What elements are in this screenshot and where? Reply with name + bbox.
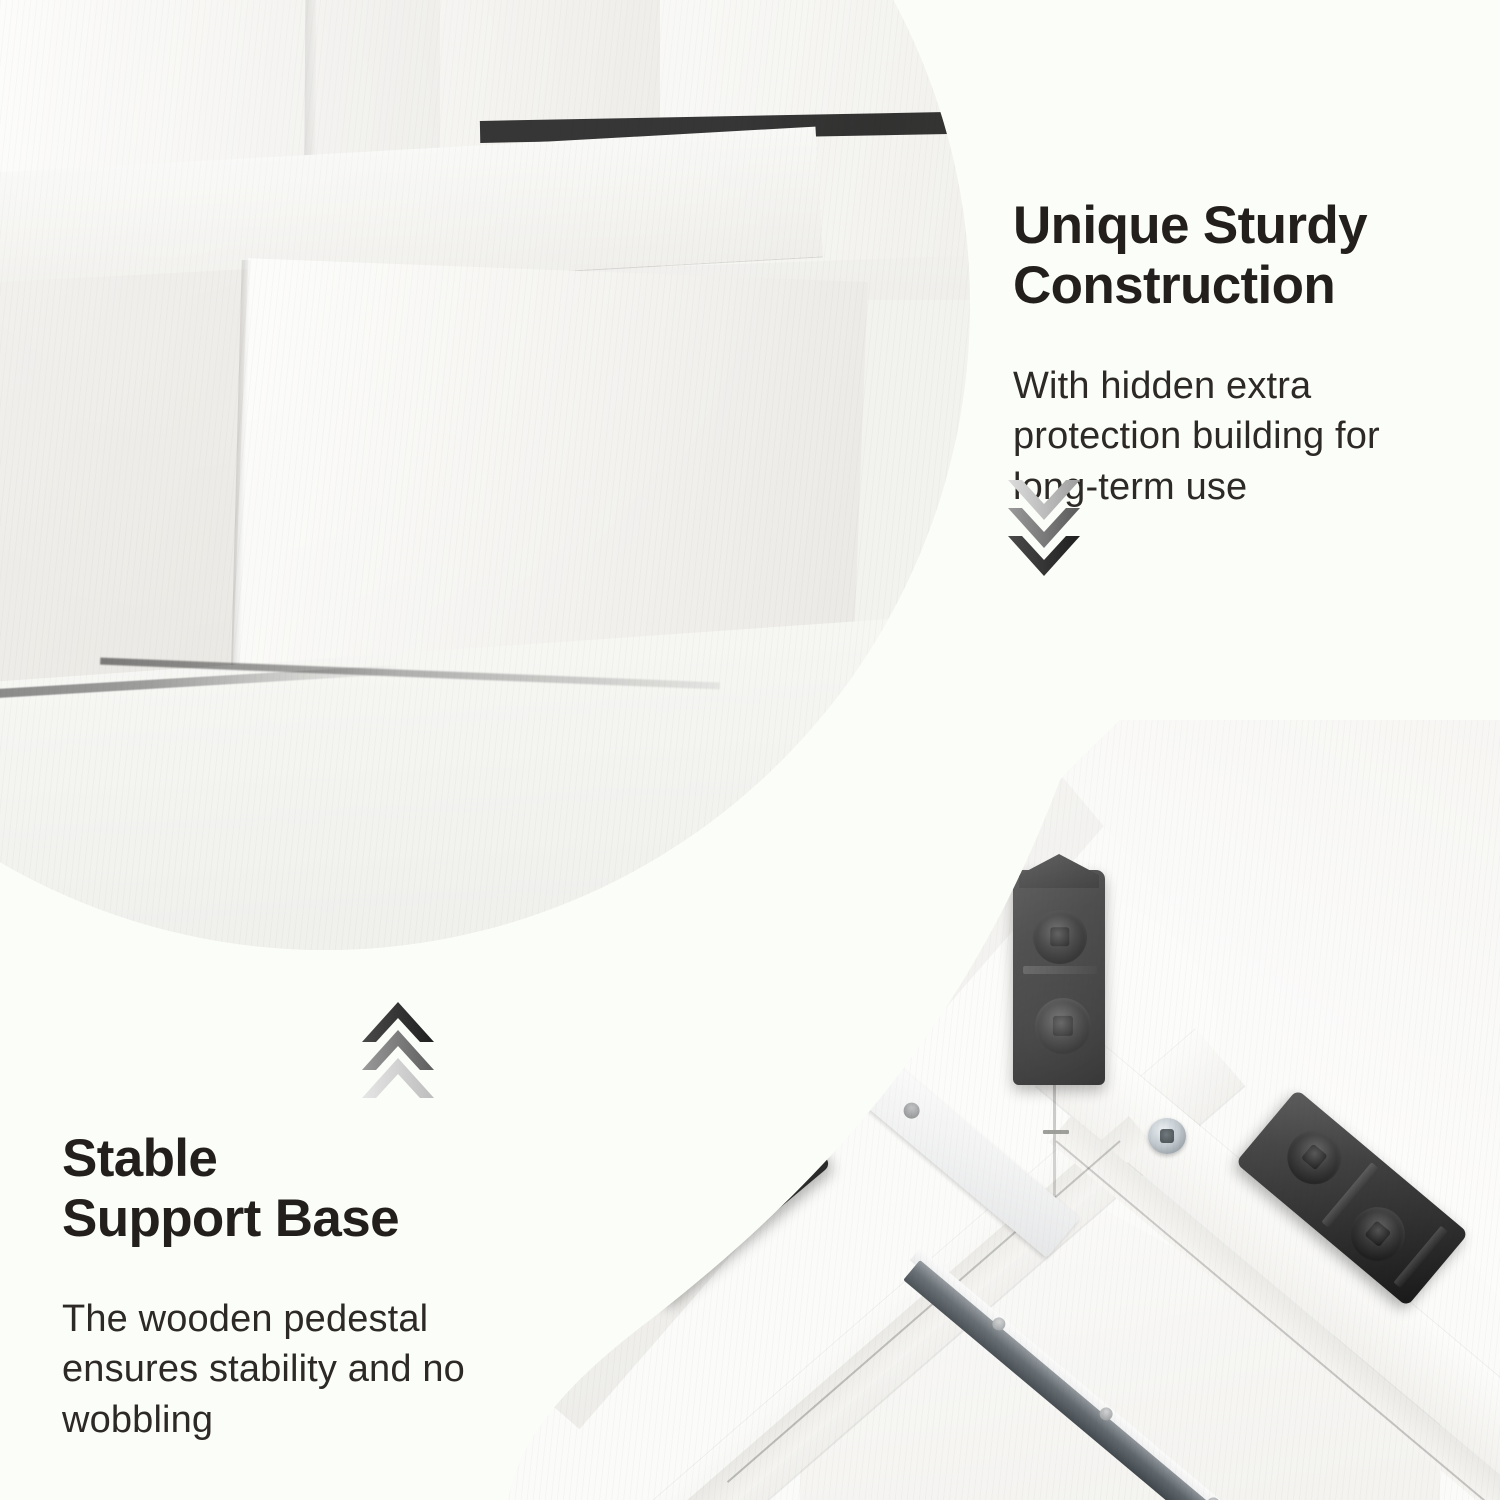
feature-heading-line: Construction <box>1013 256 1453 316</box>
feature-heading-line: Support Base <box>62 1189 532 1249</box>
corner-bracket-apex <box>1013 870 1105 1085</box>
bracket-cam-fitting <box>1035 998 1091 1054</box>
feature-heading-line: Unique Sturdy <box>1013 196 1453 256</box>
bracket-cam-fitting <box>702 1130 781 1209</box>
corner-bracket-left <box>603 1091 832 1305</box>
furniture-corner-photo <box>0 0 970 950</box>
bracket-cam-fitting <box>1340 1196 1416 1272</box>
feature-description-line: ensures stability and no <box>62 1344 532 1395</box>
feature-description: The wooden pedestal ensures stability an… <box>62 1294 532 1446</box>
feature-heading-line: Stable <box>62 1129 532 1189</box>
feature-block-stable-support-base: Stable Support Base The wooden pedestal … <box>62 1085 532 1483</box>
staple-lower <box>1043 1130 1069 1134</box>
feature-heading: Stable Support Base <box>62 1129 532 1250</box>
photo-scene-cabinet-base <box>0 0 970 950</box>
product-feature-infographic: Unique Sturdy Construction With hidden e… <box>0 0 1500 1500</box>
slide-plate-hole <box>900 1099 923 1122</box>
bracket-cam-fitting <box>1276 1119 1352 1195</box>
feature-description-line: wobbling <box>62 1395 532 1446</box>
bracket-rib <box>615 1228 671 1292</box>
bracket-cam-fitting <box>1033 910 1087 964</box>
feature-description-line: With hidden extra <box>1013 361 1453 412</box>
metal-screw <box>1148 1118 1186 1154</box>
bracket-rib <box>681 1170 738 1236</box>
chevron-double-down-icon <box>1008 478 1080 578</box>
feature-description-line: The wooden pedestal <box>62 1294 532 1345</box>
feature-description-line: protection building for <box>1013 411 1453 462</box>
bracket-cam-fitting <box>643 1208 716 1281</box>
feature-heading: Unique Sturdy Construction <box>1013 196 1453 317</box>
bracket-rib <box>1023 966 1097 974</box>
